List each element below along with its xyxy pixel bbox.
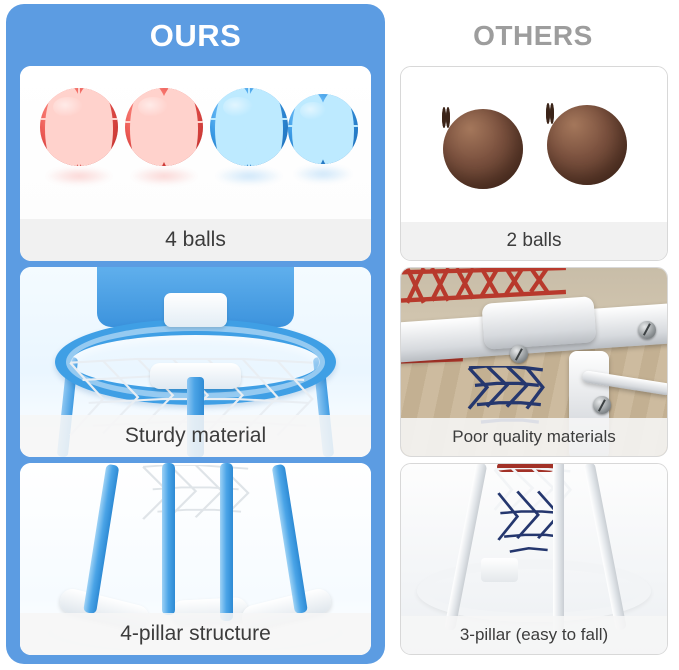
ball-brown-2: [547, 105, 627, 185]
screw-1: [510, 345, 528, 363]
ball-highlight: [138, 97, 168, 117]
ball-seams: [547, 105, 627, 123]
pillar-4: [271, 464, 307, 614]
ours-card-structure: 4-pillar structure: [20, 463, 371, 655]
ours-card-material: Sturdy material: [20, 267, 371, 457]
ball-blue-2: [288, 94, 358, 164]
others-caption-material: Poor quality materials: [401, 418, 667, 456]
ours-caption-balls: 4 balls: [20, 219, 371, 261]
pillar-3: [220, 463, 233, 621]
pillar-1: [83, 464, 119, 614]
others-card-material: Poor quality materials: [400, 267, 668, 457]
ours-caption-material: Sturdy material: [20, 415, 371, 457]
screw-3: [638, 321, 656, 339]
white-tube-sleeve: [482, 296, 597, 350]
ball-highlight: [300, 102, 327, 120]
ball-red-2: [125, 88, 203, 166]
pillar-2: [162, 463, 175, 615]
ball-reflection: [131, 167, 197, 185]
ball-blue-1: [210, 88, 288, 166]
white-pillar-2: [553, 464, 564, 638]
comparison-infographic: OURS: [0, 0, 679, 670]
lower-net: [136, 465, 255, 521]
ours-heading: OURS: [6, 18, 385, 54]
ball-reflection: [46, 167, 112, 185]
ball-brown-1: [443, 109, 523, 189]
ball-reflection: [216, 167, 282, 185]
base-block: [481, 558, 518, 582]
rim-mount-hub: [164, 293, 227, 327]
ours-column: OURS: [6, 4, 385, 664]
ours-caption-structure: 4-pillar structure: [20, 613, 371, 655]
ball-seams: [443, 109, 523, 127]
ours-card-balls: 4 balls: [20, 66, 371, 261]
others-card-structure: 3-pillar (easy to fall): [400, 463, 668, 655]
others-caption-balls: 2 balls: [401, 222, 667, 260]
ball-highlight: [223, 97, 253, 117]
others-heading: OTHERS: [389, 20, 677, 52]
others-column: OTHERS: [389, 4, 677, 664]
ball-red-1: [40, 88, 118, 166]
ball-reflection: [294, 165, 353, 183]
balls-stage: [20, 66, 371, 219]
others-card-balls: 2 balls: [400, 66, 668, 261]
brown-balls-stage: [401, 67, 667, 219]
others-caption-structure: 3-pillar (easy to fall): [401, 616, 667, 654]
ball-highlight: [53, 97, 83, 117]
screw-2: [593, 396, 611, 414]
